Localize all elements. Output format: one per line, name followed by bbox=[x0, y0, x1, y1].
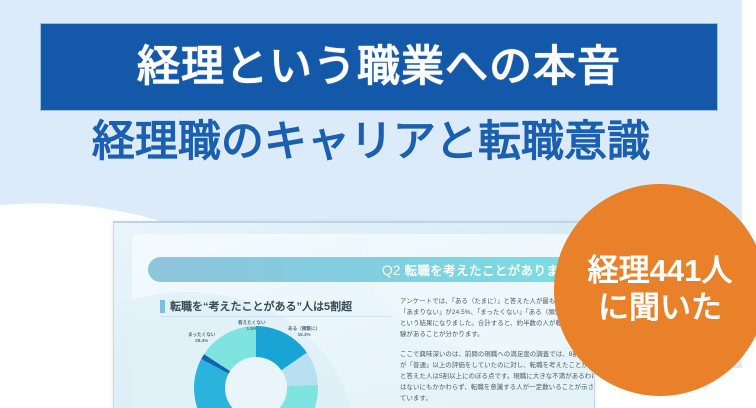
document-paragraph-2: ここで興味深いのは、前問の現職への満足度の調査では、8割以上の人が「普通」以上の… bbox=[400, 349, 595, 404]
section-heading: 転職を“考えたことがある”人は5割超 bbox=[160, 298, 352, 314]
donut-label-name: ある（頻繁に） bbox=[288, 326, 320, 331]
donut-label-value: 1.5% bbox=[238, 326, 266, 332]
section-heading-text: 転職を“考えたことがある”人は5割超 bbox=[170, 298, 352, 314]
donut-label-mattaku-nai: まったくない 28.4% bbox=[188, 332, 215, 344]
donut-label-kotaetakunai: 答えたくない 1.5% bbox=[238, 320, 266, 332]
slide-canvas: 経理という職業への本音 経理職のキャリアと転職意識 Q2 転職を考えたことがあり… bbox=[0, 0, 756, 408]
question-number: Q2 bbox=[382, 262, 401, 278]
badge-line-2: に聞いた bbox=[598, 291, 722, 326]
page-subtitle: 経理職のキャリアと転職意識 bbox=[0, 118, 742, 166]
donut-label-aru-hinpan: ある（頻繁に） 15.3% bbox=[288, 326, 320, 338]
donut-label-name: 答えたくない bbox=[238, 320, 266, 325]
page-title: 経理という職業への本音 bbox=[137, 46, 621, 89]
donut-label-value: 28.4% bbox=[188, 338, 215, 344]
title-band: 経理という職業への本音 bbox=[40, 23, 718, 111]
section-heading-rule bbox=[160, 316, 392, 317]
donut-label-name: まったくない bbox=[188, 332, 215, 337]
donut-chart: まったくない 28.4% 答えたくない 1.5% ある（頻繁に） 15.3% bbox=[194, 326, 318, 408]
survey-count-badge: 経理441人 に聞いた bbox=[554, 184, 756, 396]
badge-line-1: 経理441人 bbox=[588, 254, 733, 289]
question-banner: Q2 転職を考えたことがありますか？ bbox=[148, 257, 595, 282]
donut-label-value: 15.3% bbox=[288, 332, 320, 338]
document-page: Q2 転職を考えたことがありますか？ 転職を“考えたことがある”人は5割超 まっ… bbox=[132, 234, 595, 408]
document-preview[interactable]: Q2 転職を考えたことがありますか？ 転職を“考えたことがある”人は5割超 まっ… bbox=[113, 221, 595, 408]
heading-marker-icon bbox=[160, 300, 165, 313]
